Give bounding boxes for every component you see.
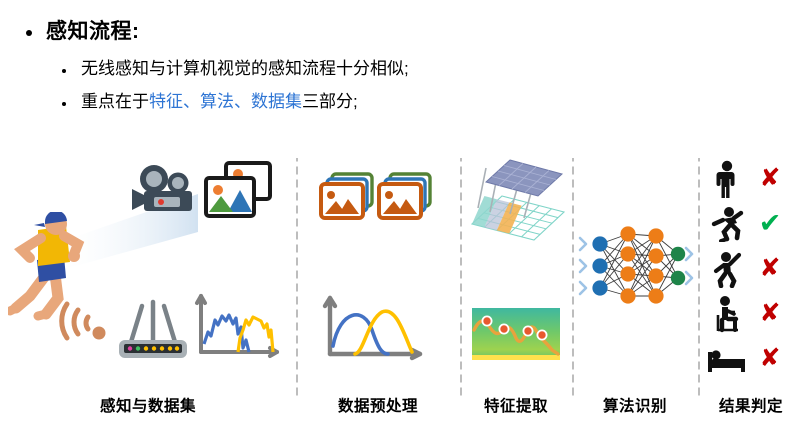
status-badge: ✘ [750,166,790,191]
stage-2-artwork [296,150,460,384]
cross-mark-icon: ✘ [760,301,781,326]
slide-canvas: 感知流程: 无线感知与计算机视觉的感知流程十分相似; 重点在于特征、算法、数据集… [0,0,804,438]
video-camera-icon [130,164,202,218]
title-bullet-icon [26,30,32,36]
bullet-item-1-label: 无线感知与计算机视觉的感知流程十分相似; [81,57,409,82]
check-mark-icon: ✔ [759,210,782,237]
status-badge: ✘ [750,346,790,371]
standing-person-icon [704,160,750,198]
stage-feature-extraction[interactable]: 特征提取 [460,150,572,438]
result-row: ✘ [704,336,798,381]
waving-person-icon [704,250,750,288]
cross-mark-icon: ✘ [760,166,781,191]
result-row: ✘ [704,291,798,336]
bullet-2-prefix: 重点在于 [81,92,149,111]
page-title: 感知流程: [46,16,140,48]
stage-algorithm-recognition[interactable]: 算法识别 [572,150,698,438]
stage-1-label: 感知与数据集 [0,394,296,416]
stage-sensing-and-dataset[interactable]: 感知与数据集 [0,150,296,438]
bullet-2-highlight: 特征、算法、数据集 [149,92,302,111]
stage-2-label: 数据预处理 [296,394,460,416]
bullet-dot-icon [62,69,66,73]
status-badge: ✘ [750,301,790,326]
stage-5-artwork: ✘ [698,150,804,384]
cross-mark-icon: ✘ [760,346,781,371]
photo-stack-icon [200,160,276,222]
running-person-icon [704,206,750,242]
hidden-layer-2-nodes [648,228,663,303]
status-badge: ✘ [750,256,790,281]
result-list: ✘ [704,156,798,381]
chevron-right-icon [686,248,692,284]
bullet-item-1: 无线感知与计算机视觉的感知流程十分相似; [62,57,804,82]
page-title-row: 感知流程: [26,16,804,48]
sitting-person-icon [704,295,750,333]
result-row: ✘ [704,156,798,201]
output-layer-nodes [671,247,685,285]
perception-pipeline: 感知与数据集 [0,150,804,438]
chevron-right-icon [580,238,586,294]
stage-data-preprocessing[interactable]: 数据预处理 [296,150,460,438]
bullet-item-2-label: 重点在于特征、算法、数据集三部分; [81,90,358,115]
cross-mark-icon: ✘ [760,256,781,281]
stage-4-artwork [572,150,698,384]
raw-signal-chart-icon [193,290,283,364]
wifi-signal-icon [55,298,107,344]
convolution-grid-icon [466,156,570,248]
text-content-block: 感知流程: 无线感知与计算机视觉的感知流程十分相似; 重点在于特征、算法、数据集… [0,0,804,115]
stage-3-label: 特征提取 [460,394,572,416]
stage-1-artwork [0,150,296,384]
result-row: ✔ [704,201,798,246]
result-row: ✘ [704,246,798,291]
bullet-item-2: 重点在于特征、算法、数据集三部分; [62,90,804,115]
status-badge: ✔ [750,210,790,237]
hidden-layer-1-nodes [620,226,635,303]
stage-5-label: 结果判定 [698,394,804,416]
stage-result-decision[interactable]: ✘ [698,150,804,438]
bullet-2-suffix: 三部分; [302,92,358,111]
bullet-dot-icon [62,102,66,106]
input-layer-nodes [592,236,607,295]
lying-person-icon [704,344,750,374]
spectrogram-heatmap-icon [472,308,560,366]
stage-4-label: 算法识别 [572,394,698,416]
neural-network-icon [578,218,694,314]
wifi-router-icon [115,298,191,364]
image-stack-icon [316,170,440,232]
smoothed-curve-chart-icon [320,290,430,368]
stage-3-artwork [460,150,572,384]
